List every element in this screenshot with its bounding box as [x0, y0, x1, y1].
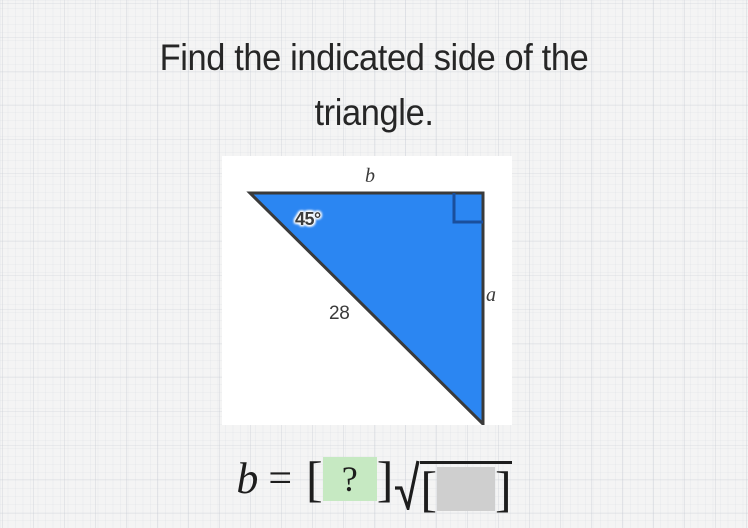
triangle-diagram	[222, 156, 512, 425]
angle-label-45: 45°	[295, 210, 321, 228]
side-label-a: a	[486, 285, 496, 305]
hypotenuse-label-28: 28	[329, 304, 350, 323]
radicand-input[interactable]	[437, 467, 495, 511]
side-label-b: b	[365, 166, 375, 186]
equals-sign: =	[268, 453, 292, 505]
coefficient-blank[interactable]: [ ? ]	[306, 455, 393, 503]
radical-group: [ ]	[395, 448, 511, 512]
answer-variable: b	[236, 453, 258, 505]
coefficient-input[interactable]: ?	[323, 457, 377, 501]
coefficient-close-bracket: ]	[377, 455, 394, 503]
coefficient-open-bracket: [	[306, 455, 323, 503]
radicand-blank[interactable]: [ ]	[420, 461, 511, 512]
triangle-figure-panel	[222, 156, 512, 425]
worksheet-page: Find the indicated side of the triangle.…	[0, 0, 748, 528]
square-root-icon	[395, 448, 421, 510]
triangle-shape	[250, 193, 483, 424]
radicand-close-bracket: ]	[495, 465, 512, 513]
radicand-open-bracket: [	[420, 465, 437, 513]
question-prompt: Find the indicated side of the triangle.	[26, 30, 722, 140]
answer-expression: b = [ ? ] [ ]	[0, 445, 748, 515]
